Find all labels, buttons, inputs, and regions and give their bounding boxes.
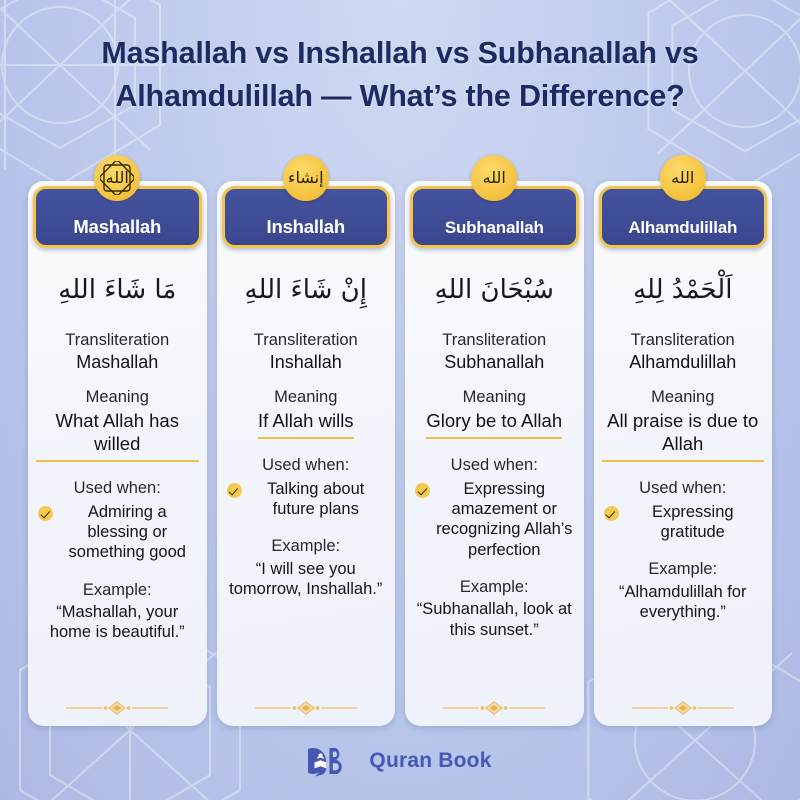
- example-block: Example: “Subhanallah, look at this suns…: [413, 577, 576, 640]
- example-label: Example:: [602, 559, 765, 580]
- used-when-text: Talking about future plans: [247, 479, 386, 519]
- used-when-text: Admiring a blessing or something good: [58, 502, 197, 562]
- used-when-label: Used when:: [225, 455, 388, 476]
- example-block: Example: “Alhamdulillah for everything.”: [602, 559, 765, 622]
- meaning-label: Meaning: [413, 387, 576, 408]
- meaning-block: Meaning Glory be to Allah: [413, 387, 576, 438]
- allah-medallion-icon: الله: [471, 155, 517, 201]
- used-when-label: Used when:: [36, 478, 199, 499]
- used-when-label: Used when:: [602, 478, 765, 499]
- transliteration-value: Mashallah: [36, 352, 199, 374]
- card-mashallah[interactable]: الله Mashallah مَا شَاءَ اللهِ Translite…: [28, 181, 207, 726]
- medallion-glyph: الله: [483, 170, 506, 186]
- example-text: “Mashallah, your home is beautiful.”: [36, 602, 199, 643]
- example-block: Example: “I will see you tomorrow, Insha…: [225, 536, 388, 599]
- used-when-block: Used when: Admiring a blessing or someth…: [36, 478, 199, 563]
- meaning-block: Meaning All praise is due to Allah: [602, 387, 765, 461]
- eight-point-star-icon: [100, 161, 134, 195]
- transliteration-label: Transliteration: [413, 330, 576, 351]
- card-inshallah[interactable]: إنشاء Inshallah إِنْ شَاءَ اللهِ Transli…: [217, 181, 396, 726]
- card-alhamdulillah[interactable]: الله Alhamdulillah اَلْحَمْدُ لِلهِ Tran…: [594, 181, 773, 726]
- card-subhanallah[interactable]: الله Subhanallah سُبْحَانَ اللهِ Transli…: [405, 181, 584, 726]
- title-line-2: Alhamdulillah — What’s the Difference?: [40, 75, 760, 118]
- comparison-cards-row: الله Mashallah مَا شَاءَ اللهِ Translite…: [28, 181, 772, 726]
- card-badge-label: Alhamdulillah: [628, 218, 737, 238]
- used-when-block: Used when: Expressing amazement or recog…: [413, 455, 576, 560]
- card-ornament-icon: [217, 701, 396, 715]
- allah-medallion-icon: الله: [660, 155, 706, 201]
- meaning-block: Meaning What Allah has willed: [36, 387, 199, 461]
- title-line-1: Mashallah vs Inshallah vs Subhanallah vs: [40, 32, 760, 75]
- card-badge-label: Subhanallah: [445, 218, 544, 238]
- transliteration-value: Alhamdulillah: [602, 352, 765, 374]
- meaning-value: What Allah has willed: [36, 410, 199, 462]
- card-badge-label: Inshallah: [267, 216, 345, 238]
- used-when-block: Used when: Talking about future plans: [225, 455, 388, 520]
- meaning-value: All praise is due to Allah: [602, 410, 765, 462]
- example-label: Example:: [225, 536, 388, 557]
- quran-book-logo-icon: [308, 744, 360, 778]
- example-label: Example:: [413, 577, 576, 598]
- transliteration-label: Transliteration: [225, 330, 388, 351]
- example-text: “Subhanallah, look at this sunset.”: [413, 599, 576, 640]
- transliteration-label: Transliteration: [602, 330, 765, 351]
- used-when-item: Expressing gratitude: [602, 502, 765, 542]
- medallion-glyph: الله: [671, 170, 694, 186]
- medallion-glyph: إنشاء: [288, 170, 324, 186]
- page-title: Mashallah vs Inshallah vs Subhanallah vs…: [0, 32, 800, 119]
- meaning-block: Meaning If Allah wills: [225, 387, 388, 438]
- transliteration-value: Subhanallah: [413, 352, 576, 374]
- check-icon: [604, 506, 619, 521]
- card-ornament-icon: [28, 701, 207, 715]
- used-when-item: Admiring a blessing or something good: [36, 502, 199, 562]
- used-when-text: Expressing amazement or recognizing Alla…: [435, 479, 574, 560]
- example-block: Example: “Mashallah, your home is beauti…: [36, 580, 199, 643]
- example-text: “I will see you tomorrow, Inshallah.”: [225, 559, 388, 600]
- used-when-text: Expressing gratitude: [624, 502, 763, 542]
- meaning-value: If Allah wills: [258, 410, 354, 439]
- meaning-value: Glory be to Allah: [426, 410, 562, 439]
- example-text: “Alhamdulillah for everything.”: [602, 582, 765, 623]
- arabic-phrase: مَا شَاءَ اللهِ: [36, 259, 199, 321]
- check-icon: [415, 483, 430, 498]
- card-badge-label: Mashallah: [73, 216, 161, 238]
- arabic-phrase: إِنْ شَاءَ اللهِ: [225, 259, 388, 321]
- check-icon: [38, 506, 53, 521]
- footer-branding[interactable]: Quran Book: [0, 744, 800, 778]
- arabic-phrase: سُبْحَانَ اللهِ: [413, 259, 576, 321]
- used-when-label: Used when:: [413, 455, 576, 476]
- used-when-item: Talking about future plans: [225, 479, 388, 519]
- used-when-block: Used when: Expressing gratitude: [602, 478, 765, 543]
- allah-medallion-icon: إنشاء: [283, 155, 329, 201]
- meaning-label: Meaning: [225, 387, 388, 408]
- used-when-item: Expressing amazement or recognizing Alla…: [413, 479, 576, 560]
- card-ornament-icon: [405, 701, 584, 715]
- transliteration-value: Inshallah: [225, 352, 388, 374]
- transliteration-label: Transliteration: [36, 330, 199, 351]
- card-ornament-icon: [594, 701, 773, 715]
- example-label: Example:: [36, 580, 199, 601]
- brand-name: Quran Book: [369, 749, 491, 773]
- infographic-canvas: Mashallah vs Inshallah vs Subhanallah vs…: [0, 0, 800, 800]
- allah-medallion-icon: الله: [94, 155, 140, 201]
- meaning-label: Meaning: [602, 387, 765, 408]
- check-icon: [227, 483, 242, 498]
- meaning-label: Meaning: [36, 387, 199, 408]
- arabic-phrase: اَلْحَمْدُ لِلهِ: [602, 259, 765, 321]
